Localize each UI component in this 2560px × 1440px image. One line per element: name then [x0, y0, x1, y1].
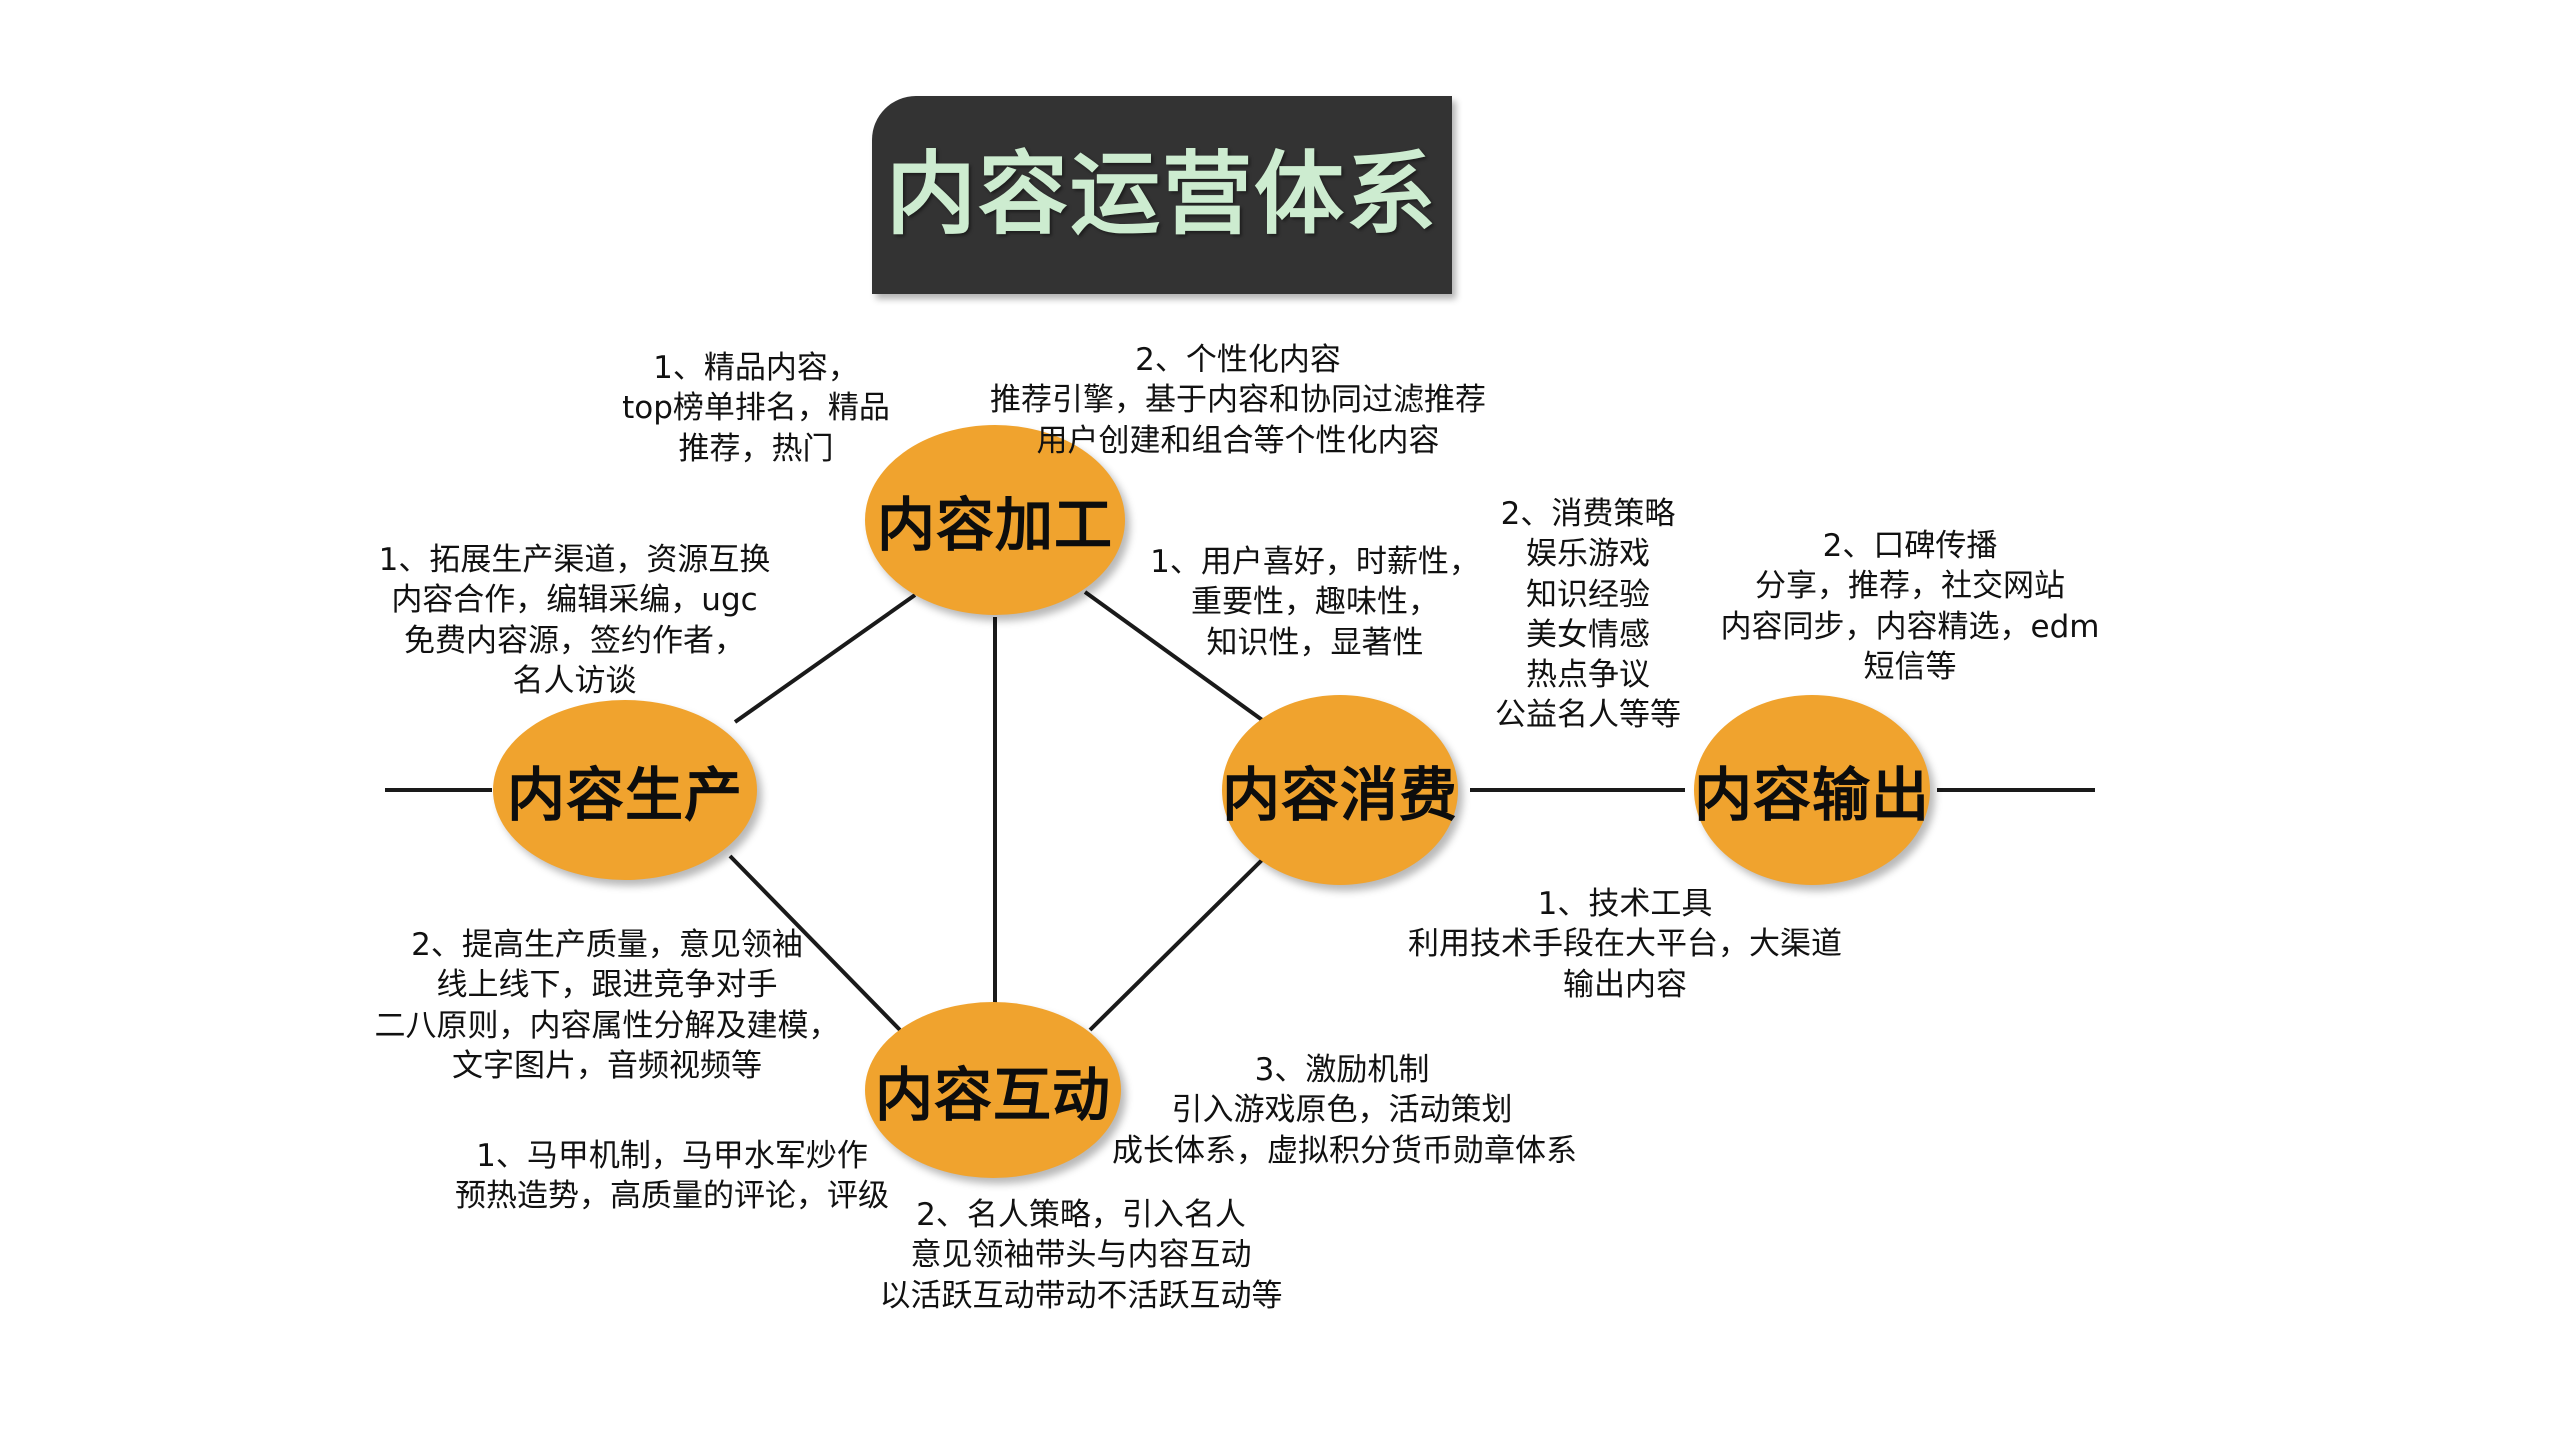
note-line: 成长体系，虚拟积分货币勋章体系 [1112, 1131, 1572, 1171]
note-line: 用户创建和组合等个性化内容 [958, 421, 1518, 461]
node-label: 内容互动 [875, 1048, 1111, 1132]
note-line: 2、口碑传播 [1690, 526, 2130, 566]
note-line: 以活跃互动带动不活跃互动等 [856, 1276, 1306, 1316]
link-consumption-interaction [1090, 860, 1262, 1030]
note-line: 推荐，热门 [601, 429, 911, 469]
note-line: 短信等 [1690, 647, 2130, 687]
note-line: 1、拓展生产渠道，资源互换 [362, 540, 787, 580]
note-line: 内容同步，内容精选，edm [1690, 607, 2130, 647]
note-line: 美女情感 [1470, 615, 1706, 655]
note-line: 1、马甲机制，马甲水军炒作 [432, 1136, 912, 1176]
note-line: 1、精品内容， [601, 348, 911, 388]
note-expand-channels: 1、拓展生产渠道，资源互换 内容合作，编辑采编，ugc 免费内容源，签约作者， … [362, 540, 787, 701]
note-line: 引入游戏原色，活动策划 [1112, 1090, 1572, 1130]
node-label: 内容加工 [877, 478, 1113, 562]
note-line: 1、技术工具 [1400, 884, 1850, 924]
note-line: 知识经验 [1470, 575, 1706, 615]
note-line: 输出内容 [1400, 965, 1850, 1005]
note-line: 知识性，显著性 [1150, 623, 1480, 663]
note-line: 意见领袖带头与内容互动 [856, 1235, 1306, 1275]
note-line: 热点争议 [1470, 655, 1706, 695]
note-word-of-mouth: 2、口碑传播 分享，推荐，社交网站 内容同步，内容精选，edm 短信等 [1690, 526, 2130, 687]
note-line: 分享，推荐，社交网站 [1690, 566, 2130, 606]
note-line: 预热造势，高质量的评论，评级 [432, 1176, 912, 1216]
note-line: 2、提高生产质量，意见领袖 [372, 925, 842, 965]
note-line: 娱乐游戏 [1470, 534, 1706, 574]
note-line: 3、激励机制 [1112, 1050, 1572, 1090]
note-line: 文字图片，音频视频等 [372, 1046, 842, 1086]
note-user-preference: 1、用户喜好，时薪性， 重要性，趣味性， 知识性，显著性 [1150, 542, 1480, 663]
note-line: 2、消费策略 [1470, 494, 1706, 534]
note-line: 重要性，趣味性， [1150, 582, 1480, 622]
note-tech-tools: 1、技术工具 利用技术手段在大平台，大渠道 输出内容 [1400, 884, 1850, 1005]
note-line: 内容合作，编辑采编，ugc [362, 580, 787, 620]
note-line: 免费内容源，签约作者， [362, 621, 787, 661]
note-incentive: 3、激励机制 引入游戏原色，活动策划 成长体系，虚拟积分货币勋章体系 [1112, 1050, 1572, 1171]
node-content-consumption[interactable]: 内容消费 [1222, 695, 1458, 885]
note-line: 推荐引擎，基于内容和协同过滤推荐 [958, 380, 1518, 420]
note-consumption-strategy: 2、消费策略 娱乐游戏 知识经验 美女情感 热点争议 公益名人等等 [1470, 494, 1706, 736]
node-content-output[interactable]: 内容输出 [1694, 695, 1930, 885]
note-line: 利用技术手段在大平台，大渠道 [1400, 924, 1850, 964]
note-line: 线上线下，跟进竞争对手 [372, 965, 842, 1005]
note-line: 2、个性化内容 [958, 340, 1518, 380]
diagram-canvas: 内容运营体系 内容加工 内容生产 内容消费 内容输出 内容互动 1、精品内容， … [0, 0, 2560, 1440]
note-line: 2、名人策略，引入名人 [856, 1195, 1306, 1235]
node-content-production[interactable]: 内容生产 [493, 700, 757, 880]
note-celebrity-strategy: 2、名人策略，引入名人 意见领袖带头与内容互动 以活跃互动带动不活跃互动等 [856, 1195, 1306, 1316]
note-line: 1、用户喜好，时薪性， [1150, 542, 1480, 582]
note-line: 公益名人等等 [1470, 695, 1706, 735]
note-improve-quality: 2、提高生产质量，意见领袖 线上线下，跟进竞争对手 二八原则，内容属性分解及建模… [372, 925, 842, 1086]
note-line: top榜单排名，精品 [601, 388, 911, 428]
note-premium-content: 1、精品内容， top榜单排名，精品 推荐，热门 [601, 348, 911, 469]
note-personalized-content: 2、个性化内容 推荐引擎，基于内容和协同过滤推荐 用户创建和组合等个性化内容 [958, 340, 1518, 461]
note-line: 二八原则，内容属性分解及建模， [372, 1006, 842, 1046]
node-label: 内容消费 [1222, 748, 1458, 832]
node-label: 内容输出 [1694, 748, 1930, 832]
note-sockpuppet: 1、马甲机制，马甲水军炒作 预热造势，高质量的评论，评级 [432, 1136, 912, 1217]
node-label: 内容生产 [507, 748, 743, 832]
note-line: 名人访谈 [362, 661, 787, 701]
